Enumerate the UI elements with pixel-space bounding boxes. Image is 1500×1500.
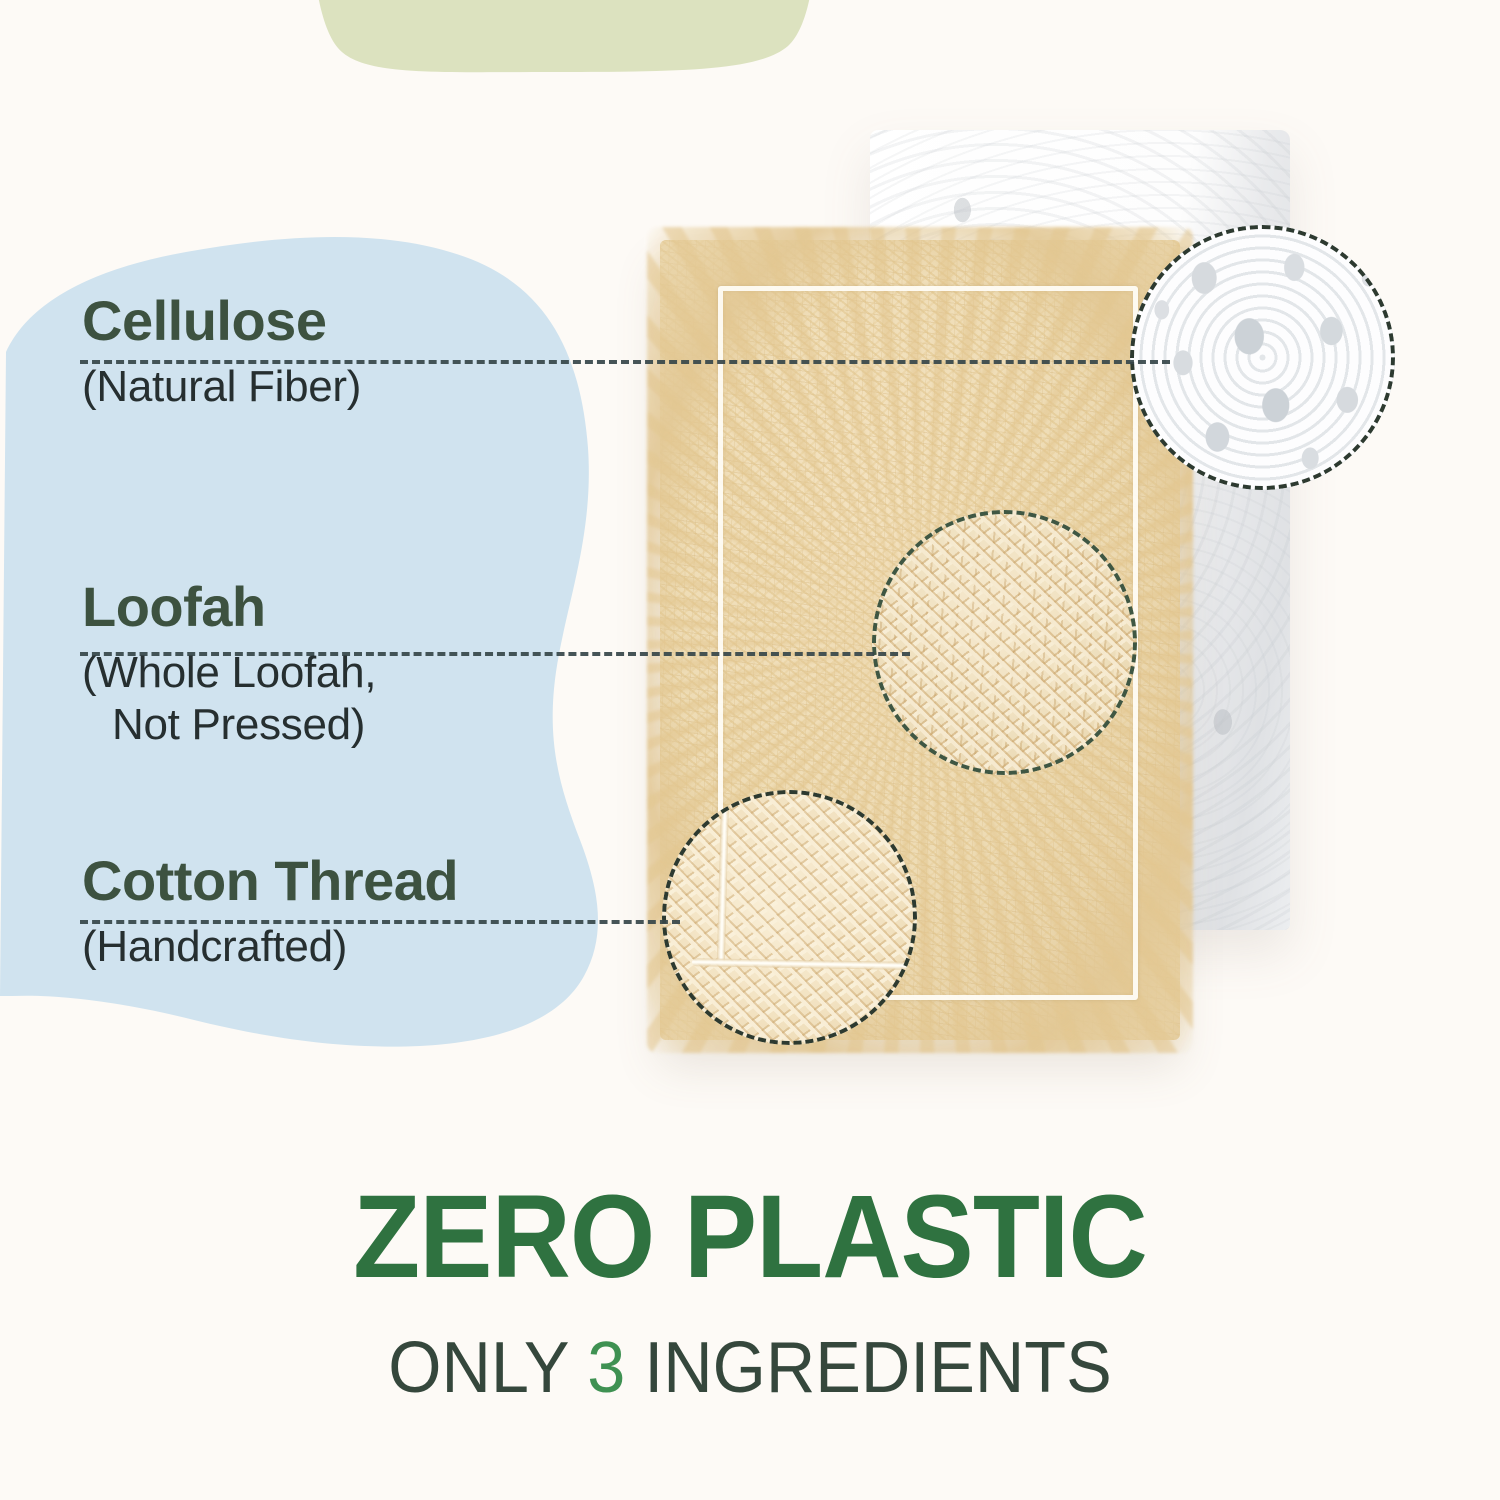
label-loofah: Loofah (Whole Loofah, Not Pressed) xyxy=(82,578,376,751)
dashed-ring-cotton-thread xyxy=(662,790,917,1045)
subheadline-count: 3 xyxy=(587,1328,625,1408)
label-cellulose: Cellulose (Natural Fiber) xyxy=(82,292,361,413)
callout-circle-loofah xyxy=(872,510,1137,775)
dashed-ring-loofah xyxy=(872,510,1137,775)
callout-circle-cellulose xyxy=(1130,225,1395,490)
label-loofah-title: Loofah xyxy=(82,578,376,637)
ingredient-label-list: Cellulose (Natural Fiber) Loofah (Whole … xyxy=(0,0,640,1100)
label-cotton-thread: Cotton Thread (Handcrafted) xyxy=(82,852,458,973)
subheadline-prefix: ONLY xyxy=(388,1328,587,1408)
headline-zero-plastic: ZERO PLASTIC xyxy=(53,1178,1448,1296)
product-photo-group xyxy=(620,110,1460,1090)
label-loofah-subtitle-line1: (Whole Loofah, xyxy=(82,648,376,697)
label-cellulose-subtitle: (Natural Fiber) xyxy=(82,361,361,413)
subheadline-ingredients: ONLY 3 INGREDIENTS xyxy=(38,1332,1463,1404)
label-loofah-subtitle: (Whole Loofah, Not Pressed) xyxy=(82,647,376,751)
dashed-ring-cellulose xyxy=(1130,225,1395,490)
label-cotton-thread-subtitle: (Handcrafted) xyxy=(82,921,458,973)
subheadline-suffix: INGREDIENTS xyxy=(625,1328,1111,1408)
callout-circle-cotton-thread xyxy=(662,790,917,1045)
label-cotton-thread-title: Cotton Thread xyxy=(82,852,458,911)
infographic-canvas: Cellulose (Natural Fiber) Loofah (Whole … xyxy=(0,0,1500,1500)
label-cellulose-title: Cellulose xyxy=(82,292,361,351)
label-loofah-subtitle-line2: Not Pressed) xyxy=(82,699,376,751)
